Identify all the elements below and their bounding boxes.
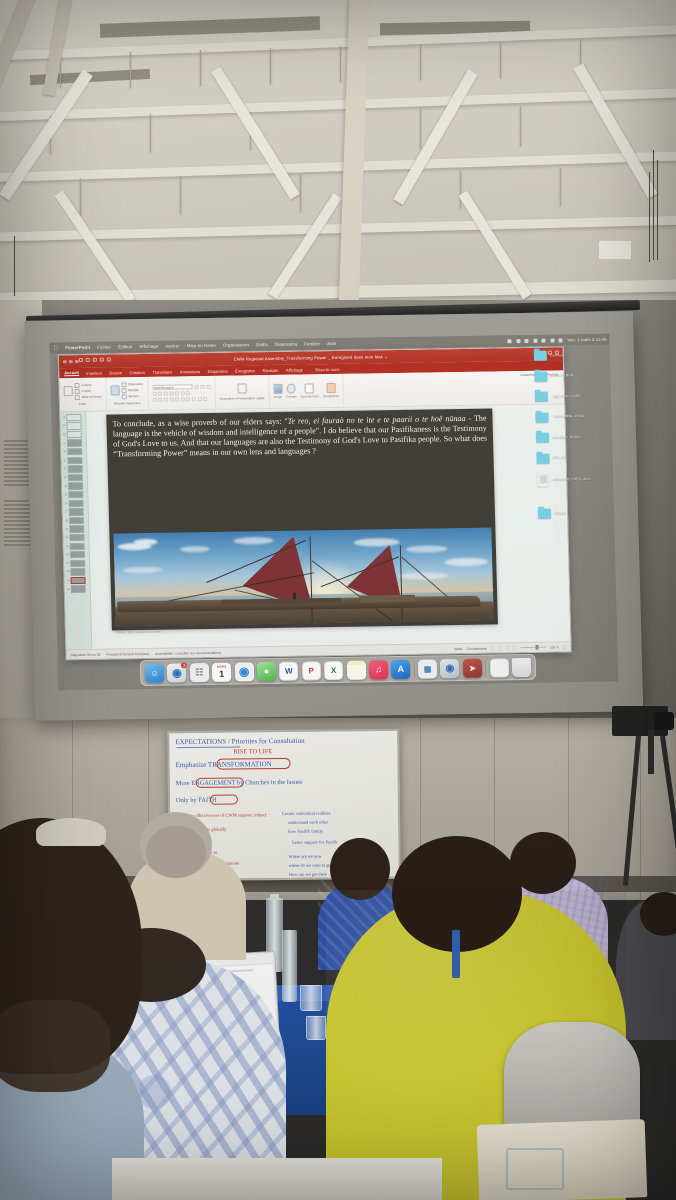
ceiling-light-fixture bbox=[598, 240, 632, 260]
safari-badge: 1 bbox=[181, 662, 187, 668]
thumbnail-number: 22 bbox=[63, 468, 67, 471]
folder-icon[interactable] bbox=[536, 453, 549, 463]
lanyard bbox=[452, 930, 460, 978]
thumbnail-number: 32 bbox=[65, 553, 69, 556]
thumbnail-number: 27 bbox=[64, 511, 68, 514]
zoom-slider-handle[interactable] bbox=[535, 645, 538, 649]
desktop-icon-label: - WWW HINA...OTAU bbox=[551, 414, 584, 419]
cut-label: Couper bbox=[81, 383, 91, 387]
beard bbox=[0, 1000, 110, 1092]
thumbnail-item: 36 bbox=[65, 585, 90, 594]
folder-icon[interactable] bbox=[535, 392, 548, 402]
reset-label: Rétablir bbox=[128, 388, 139, 392]
tab-dessin[interactable]: Dessin bbox=[109, 370, 122, 375]
decrease-indent-icon[interactable] bbox=[164, 398, 168, 402]
tell-me-box[interactable]: Dites-le-nous bbox=[315, 366, 339, 371]
thumbnail-number: 25 bbox=[63, 493, 67, 496]
thumbnail-number: 17 bbox=[62, 425, 66, 428]
numbering-icon[interactable] bbox=[158, 398, 162, 402]
slide-image-canoe[interactable] bbox=[113, 528, 493, 627]
paste-icon[interactable] bbox=[64, 386, 73, 396]
new-slide-icon[interactable] bbox=[110, 386, 119, 396]
notes-placeholder[interactable]: Cliquez pour ajouter des notes bbox=[116, 630, 161, 635]
notes-icon[interactable] bbox=[346, 660, 365, 679]
thumbnail-preview[interactable] bbox=[68, 482, 83, 490]
ribbon-group-drawing[interactable]: Disposition et Présentation rapide bbox=[215, 375, 270, 409]
wb-line-better-support: better support for Pacific bbox=[292, 839, 338, 844]
menu-item-diaporama[interactable]: Diaporama bbox=[275, 342, 298, 347]
thumbnail-item: 31 bbox=[64, 542, 89, 551]
trash-icon[interactable] bbox=[512, 657, 531, 676]
powerpoint-glyph: P bbox=[308, 666, 314, 675]
wb-box-engagement bbox=[196, 777, 244, 788]
thumbnail-number: 16 bbox=[61, 416, 65, 419]
thumbnail-number: 28 bbox=[64, 519, 68, 522]
clipboard-caption: Coller bbox=[64, 402, 102, 407]
thumbnail-item: 25 bbox=[62, 490, 87, 499]
tab-accueil[interactable]: Accueil bbox=[64, 370, 79, 377]
thumbnail-item: 33 bbox=[64, 559, 89, 568]
menu-item-edition[interactable]: Édition bbox=[118, 344, 132, 349]
thumbnail-item: 27 bbox=[63, 507, 88, 516]
projector-screen:  PowerPoint Fichier Édition Affichage I… bbox=[25, 311, 643, 720]
thumbnail-number: 19 bbox=[62, 442, 66, 445]
tote-bag-logo bbox=[506, 1148, 564, 1190]
slide-sorter-icon[interactable] bbox=[498, 646, 502, 650]
desktop-icon-label: - WW TEHU...IFAD bbox=[551, 394, 580, 399]
water-bottle-3 bbox=[282, 930, 297, 1002]
word-document-icon[interactable] bbox=[537, 474, 548, 487]
thumbnail-number: 18 bbox=[62, 433, 66, 436]
section-label: Section bbox=[128, 394, 138, 398]
thumbnail-preview[interactable] bbox=[68, 465, 83, 473]
copy-icon[interactable] bbox=[75, 389, 80, 394]
drawing-caption: Disposition et Présentation rapide bbox=[220, 396, 265, 401]
calendar-day: 1 bbox=[219, 669, 224, 678]
slide-counter: Diapositive 35 sur 36 bbox=[70, 652, 100, 656]
desktop-icon-label: PERSO bbox=[554, 511, 566, 515]
layout-label: Disposition bbox=[128, 382, 143, 386]
zoom-level[interactable]: 109 % bbox=[550, 645, 559, 649]
thumbnail-item: 20 bbox=[61, 447, 86, 456]
wb-line-rise-to-life: RISE TO LIFE bbox=[233, 748, 272, 755]
desktop-icon-annuaire-docx[interactable]: - ANNUAIRE PRES...docx bbox=[537, 473, 611, 487]
macos-dock[interactable]: ☺ ◉ 1 ☷ MARS 1 ◉ ● W P X bbox=[140, 654, 537, 686]
thumbnail-preview-selected[interactable] bbox=[71, 577, 86, 585]
shapes-icon[interactable] bbox=[287, 384, 296, 394]
font-color-icon[interactable] bbox=[180, 391, 184, 395]
decrease-font-icon[interactable] bbox=[206, 384, 210, 388]
thumbnail-item: 19 bbox=[61, 439, 86, 448]
menu-item-fenetre[interactable]: Fenêtre bbox=[304, 341, 320, 346]
crew-figure bbox=[293, 593, 296, 600]
messages-icon[interactable]: ● bbox=[257, 661, 276, 680]
font-name-input[interactable]: Arial Rounded bbox=[152, 384, 192, 390]
comments-toggle[interactable]: Commentaires bbox=[466, 646, 487, 650]
picture-icon[interactable] bbox=[273, 384, 282, 394]
desktop-icon-pps-50[interactable]: PPS_50 bbox=[536, 452, 610, 463]
desktop-icon-label: ARA 2024...BORA bbox=[552, 435, 580, 440]
current-slide[interactable]: To conclude, as a wise proverb of our el… bbox=[106, 409, 498, 631]
menu-item-fichier[interactable]: Fichier bbox=[97, 344, 111, 349]
bluetooth-icon[interactable] bbox=[525, 338, 529, 342]
thumbnail-preview[interactable] bbox=[70, 568, 85, 576]
thumbnail-preview[interactable] bbox=[70, 551, 85, 559]
thumbnail-number: 35 bbox=[66, 579, 70, 582]
menu-item-affichage[interactable]: Affichage bbox=[139, 344, 158, 349]
thumbnail-preview[interactable] bbox=[69, 508, 84, 516]
conference-room-photo:  PowerPoint Fichier Édition Affichage I… bbox=[0, 0, 676, 1200]
thumbnail-number: 26 bbox=[64, 502, 68, 505]
menu-item-aide[interactable]: Aide bbox=[327, 341, 336, 346]
shapes-label: Formes bbox=[286, 395, 296, 399]
menu-item-outils[interactable]: Outils bbox=[256, 342, 268, 347]
folder-icon[interactable] bbox=[535, 412, 548, 422]
thumbnail-item: 18 bbox=[61, 430, 86, 439]
shadow-icon[interactable] bbox=[175, 391, 179, 395]
desktop-icons[interactable]: Courriers OHIPA FENUA - WW TEHU...IFAD -… bbox=[534, 350, 613, 530]
ribbon-group-clipboard[interactable]: Couper Copier Mise en forme Coller bbox=[59, 378, 106, 412]
folder-icon[interactable] bbox=[534, 351, 547, 361]
strikethrough-icon[interactable] bbox=[169, 392, 173, 396]
section-icon[interactable] bbox=[121, 394, 126, 399]
thumbnail-preview[interactable] bbox=[70, 560, 85, 568]
wb-line-locate: Locate contextual realities bbox=[282, 811, 331, 817]
text-box-label: Zone de texte bbox=[301, 394, 319, 398]
accessibility-indicator[interactable]: Accessibilité : consultez nos recommanda… bbox=[155, 650, 221, 655]
quick-styles-icon[interactable] bbox=[237, 384, 246, 394]
desktop-icon-ww-tehu-ifad[interactable]: - WW TEHU...IFAD bbox=[535, 391, 609, 402]
chrome-icon[interactable]: ◉ bbox=[234, 662, 253, 681]
arrange-icon[interactable] bbox=[326, 383, 335, 393]
thumbnail-number: 20 bbox=[62, 450, 66, 453]
thumbnail-item: 34 bbox=[64, 568, 89, 577]
desktop-icon-label: OHIPA FENUA bbox=[550, 374, 573, 379]
wb-line-where-now: Where are we now bbox=[289, 854, 322, 859]
tab-insertion[interactable]: Insertion bbox=[86, 370, 102, 375]
thumbnail-number: 31 bbox=[65, 545, 69, 548]
tripod-column bbox=[648, 730, 654, 774]
dock-separator bbox=[413, 660, 414, 677]
fit-to-window-icon[interactable] bbox=[562, 645, 566, 649]
word-icon[interactable]: W bbox=[279, 661, 298, 680]
menu-item-inserer[interactable]: Insérer bbox=[165, 343, 180, 348]
layout-icon[interactable] bbox=[121, 382, 126, 387]
thumbnail-preview[interactable] bbox=[66, 414, 81, 422]
thumbnail-preview[interactable] bbox=[71, 585, 86, 593]
picture-label: Image bbox=[274, 395, 282, 399]
wb-line-how-get-there: How can we get there bbox=[289, 872, 327, 877]
copy-label: Copier bbox=[82, 389, 91, 393]
camera-lens bbox=[654, 712, 674, 730]
tab-enregistrer[interactable]: Enregistrer bbox=[235, 368, 255, 373]
word-glyph: W bbox=[285, 666, 293, 675]
arrange-label: Réorganiser bbox=[323, 394, 339, 398]
align-center-icon[interactable] bbox=[186, 397, 190, 401]
normal-view-icon[interactable] bbox=[490, 646, 494, 650]
text-box-icon[interactable] bbox=[305, 383, 314, 393]
desktop-icon-ohipa-fenua[interactable]: OHIPA FENUA bbox=[534, 370, 608, 381]
highlight-icon[interactable] bbox=[186, 391, 190, 395]
align-left-icon[interactable] bbox=[181, 397, 185, 401]
music-icon[interactable]: ♫ bbox=[369, 660, 388, 679]
quicktime-icon[interactable]: ◉ bbox=[440, 659, 459, 678]
ribbon-group-slides[interactable]: Disposition Rétablir Section Nouvelle di… bbox=[106, 377, 149, 411]
tab-animations[interactable]: Animations bbox=[180, 369, 200, 374]
wb-box-faith bbox=[210, 794, 238, 804]
increase-font-icon[interactable] bbox=[200, 385, 204, 389]
control-center-icon[interactable] bbox=[542, 338, 546, 342]
reset-icon[interactable] bbox=[121, 388, 126, 393]
thumbnail-preview[interactable] bbox=[66, 422, 81, 430]
wb-line-pasifik-family: how Pasifik family bbox=[288, 829, 323, 834]
thumbnail-number: 24 bbox=[63, 485, 67, 488]
menu-item-mise-en-forme[interactable]: Mise en forme bbox=[187, 343, 216, 348]
folder-icon[interactable] bbox=[536, 433, 549, 443]
desktop-icon-ara-2024-bora[interactable]: ARA 2024...BORA bbox=[536, 432, 610, 443]
status-bar-right[interactable]: Notes Commentaires 109 % bbox=[454, 645, 566, 651]
increase-indent-icon[interactable] bbox=[169, 398, 173, 402]
bottle-cap-2 bbox=[270, 894, 279, 900]
desktop-icon-label: - ANNUAIRE PRES...docx bbox=[551, 477, 591, 482]
tab-transitions[interactable]: Transitions bbox=[152, 369, 172, 374]
wb-line-understand: understand each other bbox=[288, 820, 328, 825]
wb-line-expectations: EXPECTATIONS / Priorities for Consultati… bbox=[175, 737, 304, 746]
thumbnail-item: 24 bbox=[62, 482, 87, 491]
powerpoint-icon[interactable]: P bbox=[302, 661, 321, 680]
thumbnail-number: 29 bbox=[64, 528, 68, 531]
slideshow-icon[interactable] bbox=[513, 646, 517, 650]
thumbnail-preview[interactable] bbox=[69, 525, 84, 533]
thumbnail-number: 23 bbox=[63, 476, 67, 479]
thumbnail-number: 34 bbox=[65, 571, 69, 574]
thumbnail-item: 16 bbox=[60, 413, 85, 422]
desktop-icon-label: PPS_50 bbox=[553, 456, 566, 460]
thumbnail-number: 33 bbox=[65, 562, 69, 565]
underline-icon[interactable] bbox=[164, 392, 168, 396]
preview-icon[interactable]: ▦ bbox=[418, 659, 437, 678]
desktop-icon-perso[interactable]: PERSO bbox=[538, 508, 612, 519]
columns-icon[interactable] bbox=[203, 397, 207, 401]
thumbnail-preview[interactable] bbox=[67, 457, 82, 465]
downloads-stack-icon[interactable] bbox=[489, 658, 508, 677]
spotlight-icon[interactable] bbox=[550, 338, 554, 342]
notes-toggle[interactable]: Notes bbox=[454, 646, 462, 650]
bold-icon[interactable] bbox=[152, 392, 156, 396]
justify-icon[interactable] bbox=[197, 397, 201, 401]
ribbon-group-insert-media[interactable]: Image Formes Zone de texte bbox=[269, 374, 345, 408]
slide-body-text[interactable]: To conclude, as a wise proverb of our el… bbox=[106, 409, 493, 463]
wb-line-where-go: where do we want to go bbox=[289, 863, 331, 868]
align-right-icon[interactable] bbox=[192, 397, 196, 401]
thumbnail-item: 22 bbox=[62, 464, 87, 473]
menu-bar-status-area[interactable]: Ven. 1 mars à 11:46 bbox=[508, 334, 607, 347]
drinking-glass-3 bbox=[306, 1016, 326, 1040]
thumbnail-preview[interactable] bbox=[67, 448, 82, 456]
tab-diaporama[interactable]: Diaporama bbox=[208, 368, 228, 373]
thumbnail-preview[interactable] bbox=[70, 542, 85, 550]
appstore-icon[interactable]: A bbox=[391, 659, 410, 678]
desktop-icon-label: Courriers bbox=[550, 353, 564, 357]
format-painter-icon[interactable] bbox=[75, 395, 80, 400]
ribbon-group-font[interactable]: Arial Rounded bbox=[148, 376, 216, 410]
tab-creation[interactable]: Création bbox=[129, 369, 145, 374]
finder-icon[interactable]: ☺ bbox=[145, 663, 164, 682]
apple-menu-icon[interactable]:  bbox=[53, 345, 58, 351]
macos-desktop:  PowerPoint Fichier Édition Affichage I… bbox=[49, 334, 618, 691]
reading-view-icon[interactable] bbox=[505, 646, 509, 650]
excel-icon[interactable]: X bbox=[324, 660, 343, 679]
zoom-slider[interactable] bbox=[520, 647, 546, 649]
thumbnail-number: 21 bbox=[62, 459, 66, 462]
slide-editing-canvas[interactable]: To conclude, as a wise proverb of our el… bbox=[86, 404, 570, 648]
siri-icon[interactable] bbox=[559, 338, 563, 342]
thumbnail-item-selected: 35 bbox=[64, 576, 89, 585]
menu-bar-clock[interactable]: Ven. 1 mars à 11:46 bbox=[567, 337, 606, 343]
thumbnail-preview[interactable] bbox=[67, 439, 82, 447]
volume-icon[interactable] bbox=[533, 338, 537, 342]
drinking-glass-1 bbox=[300, 985, 322, 1011]
thumbnail-preview[interactable] bbox=[69, 517, 84, 525]
excel-glyph: X bbox=[331, 665, 337, 674]
thumbnail-number: 30 bbox=[64, 536, 68, 539]
desktop-icon-www-hina-otau[interactable]: - WWW HINA...OTAU bbox=[535, 411, 609, 422]
thumbnail-item: 32 bbox=[64, 550, 89, 559]
thumbnail-item: 28 bbox=[63, 516, 88, 525]
folder-icon[interactable] bbox=[538, 509, 551, 519]
head-cap bbox=[36, 818, 106, 846]
thumbnail-item: 17 bbox=[60, 421, 85, 430]
thumbnail-item: 21 bbox=[61, 456, 86, 465]
ceiling-trusses bbox=[0, 0, 676, 330]
bullets-icon[interactable] bbox=[153, 398, 157, 402]
thumbnail-preview[interactable] bbox=[68, 474, 83, 482]
dock-separator-2 bbox=[485, 659, 486, 676]
thumbnail-item: 26 bbox=[62, 499, 87, 508]
front-table bbox=[112, 1158, 442, 1200]
powerpoint-window[interactable]: CWM Regional Assembly_Transforming Power… bbox=[58, 346, 572, 660]
tab-revision[interactable]: Révision bbox=[263, 367, 279, 372]
tab-affichage[interactable]: Affichage bbox=[286, 367, 303, 372]
wb-box-transformation bbox=[217, 758, 291, 770]
menu-item-organisation[interactable]: Organisation bbox=[223, 342, 249, 347]
wifi-icon[interactable] bbox=[516, 339, 520, 343]
italic-icon[interactable] bbox=[158, 392, 162, 396]
ac-vent-lower bbox=[4, 500, 32, 546]
head-shadow bbox=[146, 826, 206, 878]
folder-icon[interactable] bbox=[534, 371, 547, 381]
calendar-icon[interactable]: MARS 1 bbox=[212, 662, 231, 681]
thumbnail-preview[interactable] bbox=[68, 499, 83, 507]
thumbnail-item: 29 bbox=[63, 525, 88, 534]
battery-icon[interactable] bbox=[508, 339, 512, 343]
thumbnail-preview[interactable] bbox=[68, 491, 83, 499]
menu-item-powerpoint[interactable]: PowerPoint bbox=[65, 345, 90, 350]
language-indicator[interactable]: Français (Polynésie française) bbox=[106, 651, 149, 656]
thumbnail-number: 36 bbox=[66, 588, 70, 591]
launchpad-icon[interactable]: ☷ bbox=[190, 662, 209, 681]
font-size-input[interactable] bbox=[194, 385, 198, 389]
canoe-deck-house bbox=[359, 595, 415, 603]
format-painter-label: Mise en forme bbox=[82, 395, 102, 399]
thumbnail-item: 30 bbox=[63, 533, 88, 542]
thumbnail-preview[interactable] bbox=[69, 534, 84, 542]
cut-icon[interactable] bbox=[74, 383, 79, 388]
safari-icon[interactable]: ◉ 1 bbox=[167, 663, 186, 682]
desktop-icon-courriers[interactable]: Courriers bbox=[534, 350, 608, 361]
slides-caption: Nouvelle diapositive bbox=[111, 401, 144, 406]
line-spacing-icon[interactable] bbox=[175, 397, 179, 401]
keynote-icon[interactable]: ➤ bbox=[463, 658, 482, 677]
thumbnail-preview[interactable] bbox=[67, 431, 82, 439]
